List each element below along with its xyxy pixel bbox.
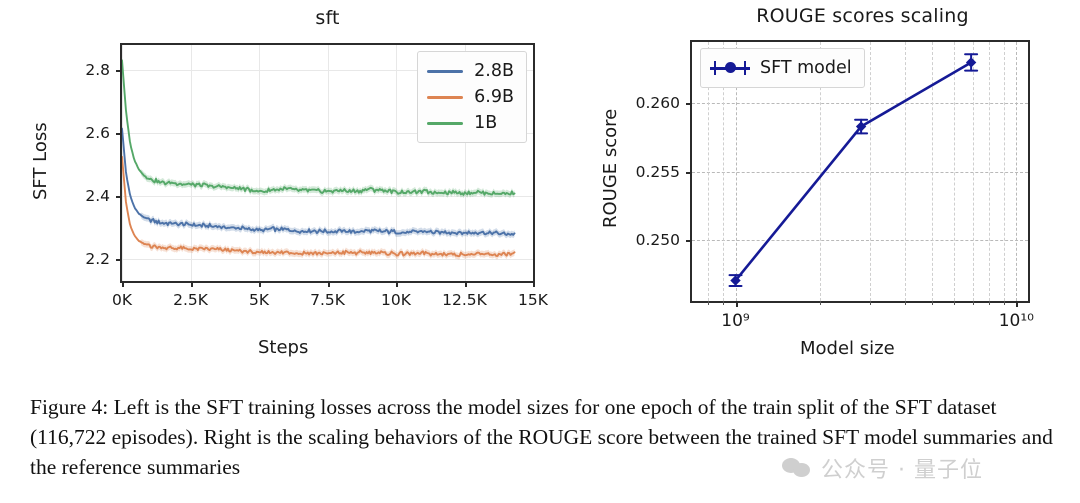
right-y-axis-title: ROUGE score: [600, 109, 621, 228]
x-tick: [533, 281, 535, 287]
y-tick-label: 0.250: [606, 231, 680, 249]
legend-item-sft-model[interactable]: SFT model: [710, 55, 852, 81]
x-tick: [191, 281, 193, 287]
x-tick-label: 15K: [518, 291, 548, 309]
y-tick: [686, 172, 692, 174]
legend-label: 1B: [474, 113, 497, 133]
left-chart-legend[interactable]: 2.8B 6.9B 1B: [417, 51, 527, 143]
x-tick-label: 7.5K: [310, 291, 345, 309]
x-tick-label: 10⁹: [721, 311, 749, 331]
x-tick: [259, 281, 261, 287]
legend-swatch-line: [427, 70, 463, 73]
y-tick: [116, 70, 122, 72]
legend-item-1[interactable]: 6.9B: [427, 84, 514, 110]
right-chart-title: ROUGE scores scaling: [690, 5, 1035, 27]
x-tick: [465, 281, 467, 287]
right-x-axis-title: Model size: [800, 338, 895, 359]
y-tick-label: 2.8: [74, 61, 110, 79]
series-line: [122, 157, 515, 256]
x-tick-label: 10¹⁰: [999, 311, 1034, 331]
x-tick: [973, 301, 974, 305]
legend-label: 6.9B: [474, 87, 514, 107]
left-y-axis-title: SFT Loss: [30, 122, 51, 200]
right-plot-area: SFT model: [690, 40, 1030, 303]
legend-item-0[interactable]: 2.8B: [427, 58, 514, 84]
x-tick: [989, 301, 990, 305]
x-tick-label: 0K: [112, 291, 132, 309]
x-tick-label: 2.5K: [173, 291, 208, 309]
left-x-axis-title: Steps: [258, 337, 308, 358]
legend-label: 2.8B: [474, 61, 514, 81]
sft-loss-chart-panel: sft 2.8B 6.9B 1B 0K2.5K5K7.5K10K12.5K15K…: [0, 0, 600, 380]
figure-caption: Figure 4: Left is the SFT training losse…: [30, 392, 1060, 482]
x-tick: [723, 301, 724, 305]
x-tick: [1004, 301, 1005, 305]
y-tick-label: 2.6: [74, 124, 110, 142]
x-tick: [1016, 301, 1018, 307]
right-chart-legend[interactable]: SFT model: [700, 48, 865, 88]
left-plot-area: 2.8B 6.9B 1B: [120, 43, 535, 283]
x-tick: [396, 281, 398, 287]
x-tick: [736, 301, 738, 307]
legend-swatch-line: [427, 122, 463, 125]
data-point-marker: [966, 57, 976, 67]
legend-marker-errorbar: [710, 59, 750, 77]
legend-swatch-line: [427, 96, 463, 99]
x-tick: [122, 281, 124, 287]
y-tick: [116, 196, 122, 198]
x-tick: [708, 301, 709, 305]
y-tick: [116, 259, 122, 261]
x-tick-label: 12.5K: [442, 291, 487, 309]
x-tick: [870, 301, 871, 305]
confidence-band: [122, 156, 515, 260]
x-tick: [905, 301, 906, 305]
x-tick: [954, 301, 955, 305]
x-tick: [932, 301, 933, 305]
x-tick-label: 10K: [381, 291, 411, 309]
legend-item-2[interactable]: 1B: [427, 110, 514, 136]
y-tick: [686, 103, 692, 105]
left-chart-title: sft: [120, 7, 535, 29]
x-tick-label: 5K: [249, 291, 269, 309]
legend-label: SFT model: [760, 58, 852, 78]
x-tick: [820, 301, 821, 305]
y-tick-label: 2.4: [74, 187, 110, 205]
figure-area: sft 2.8B 6.9B 1B 0K2.5K5K7.5K10K12.5K15K…: [0, 0, 1080, 380]
x-tick: [328, 281, 330, 287]
y-tick: [116, 133, 122, 135]
y-tick-label: 2.2: [74, 250, 110, 268]
y-tick: [686, 240, 692, 242]
series-line: [736, 62, 972, 280]
